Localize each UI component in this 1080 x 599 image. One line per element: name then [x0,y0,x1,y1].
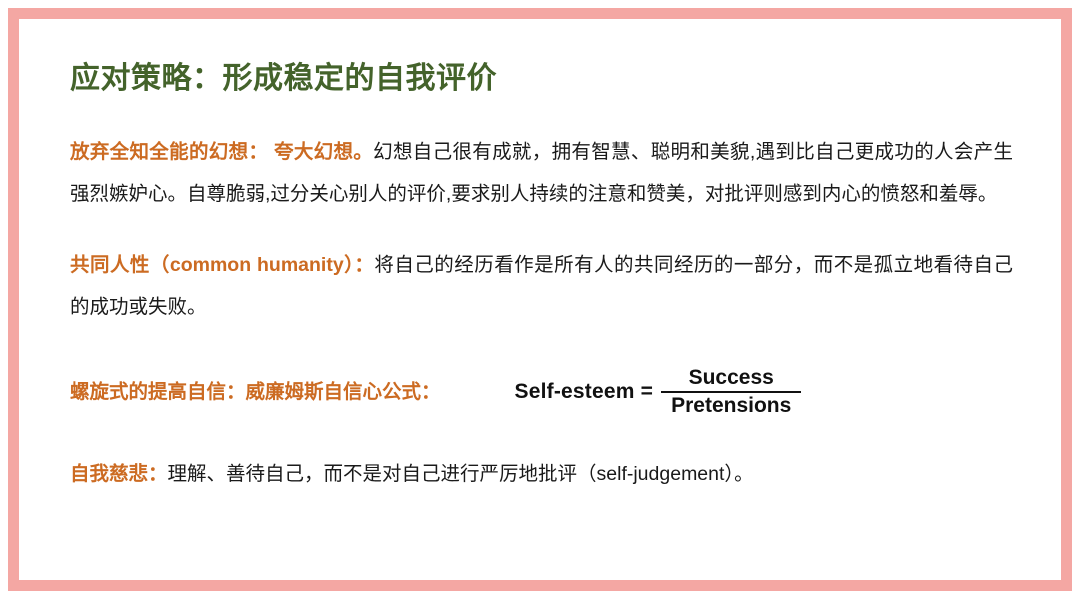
slide-border-frame: 应对策略：形成稳定的自我评价 放弃全知全能的幻想： 夸大幻想。幻想自己很有成就，… [8,8,1072,591]
section-self-esteem-formula: 螺旋式的提高自信：威廉姆斯自信心公式： Self-esteem = Succes… [70,357,1013,427]
self-esteem-formula: Self-esteem = Success Pretensions [515,366,802,417]
slide-content: 应对策略：形成稳定的自我评价 放弃全知全能的幻想： 夸大幻想。幻想自己很有成就，… [23,23,1057,576]
section-lead-label: 螺旋式的提高自信：威廉姆斯自信心公式： [70,371,441,413]
page-title: 应对策略：形成稳定的自我评价 [70,61,1013,97]
slide-inner-area: 应对策略：形成稳定的自我评价 放弃全知全能的幻想： 夸大幻想。幻想自己很有成就，… [23,23,1057,576]
section-lead-label: 自我慈悲： [70,463,168,485]
formula-numerator: Success [679,366,784,391]
section-paragraph: 共同人性（common humanity）：将自己的经历看作是所有人的共同经历的… [70,244,1013,328]
section-body-text: 理解、善待自己，而不是对自己进行严厉地批评（self-judgement）。 [168,463,754,485]
formula-left-side: Self-esteem = [515,380,662,404]
formula-denominator: Pretensions [661,393,801,418]
section-grandiose-fantasy: 放弃全知全能的幻想： 夸大幻想。幻想自己很有成就，拥有智慧、聪明和美貌,遇到比自… [70,131,1013,215]
formula-fraction: Success Pretensions [661,366,801,417]
section-paragraph: 放弃全知全能的幻想： 夸大幻想。幻想自己很有成就，拥有智慧、聪明和美貌,遇到比自… [70,131,1013,215]
slide: 应对策略：形成稳定的自我评价 放弃全知全能的幻想： 夸大幻想。幻想自己很有成就，… [0,0,1080,599]
section-self-compassion: 自我慈悲：理解、善待自己，而不是对自己进行严厉地批评（self-judgemen… [70,453,1013,495]
formula-row: 螺旋式的提高自信：威廉姆斯自信心公式： Self-esteem = Succes… [70,357,1013,427]
section-lead-label: 共同人性（common humanity）： [70,254,374,276]
section-paragraph: 自我慈悲：理解、善待自己，而不是对自己进行严厉地批评（self-judgemen… [70,453,1013,495]
section-lead-label: 放弃全知全能的幻想： 夸大幻想。 [70,141,373,163]
section-common-humanity: 共同人性（common humanity）：将自己的经历看作是所有人的共同经历的… [70,244,1013,328]
